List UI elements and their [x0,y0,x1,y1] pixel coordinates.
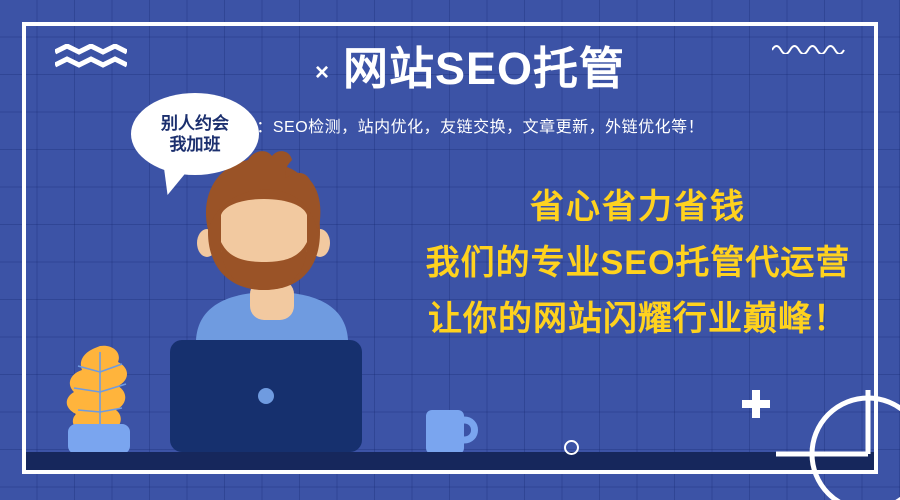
bearded-man-icon [196,151,348,372]
poster-canvas: 别人约会 我加班 × 网站SEO托管 含：SEO检测，站内优化，友链交换，文章更… [0,0,900,500]
laptop-icon [170,340,362,452]
page-title: 网站SEO托管 [343,46,625,91]
plus-icon [742,390,770,418]
speech-bubble-line-2: 我加班 [170,134,221,155]
tagline-line-1: 省心省力省钱 [398,190,878,224]
tagline-line-3: 让你的网站闪耀行业巅峰！ [398,302,878,336]
small-circle-icon [564,440,579,455]
speech-bubble-line-1: 别人约会 [161,113,229,134]
tagline-block: 省心省力省钱 我们的专业SEO托管代运营 让你的网站闪耀行业巅峰！ [398,190,878,336]
desk-icon [26,452,874,473]
corner-arc-icon [776,390,900,500]
title-row: × 网站SEO托管 [0,46,900,91]
coffee-mug-icon [426,410,475,454]
speech-bubble: 别人约会 我加班 [131,93,259,175]
tagline-line-2: 我们的专业SEO托管代运营 [398,246,878,280]
potted-plant-icon [67,346,130,454]
x-bullet-icon: × [315,61,329,85]
